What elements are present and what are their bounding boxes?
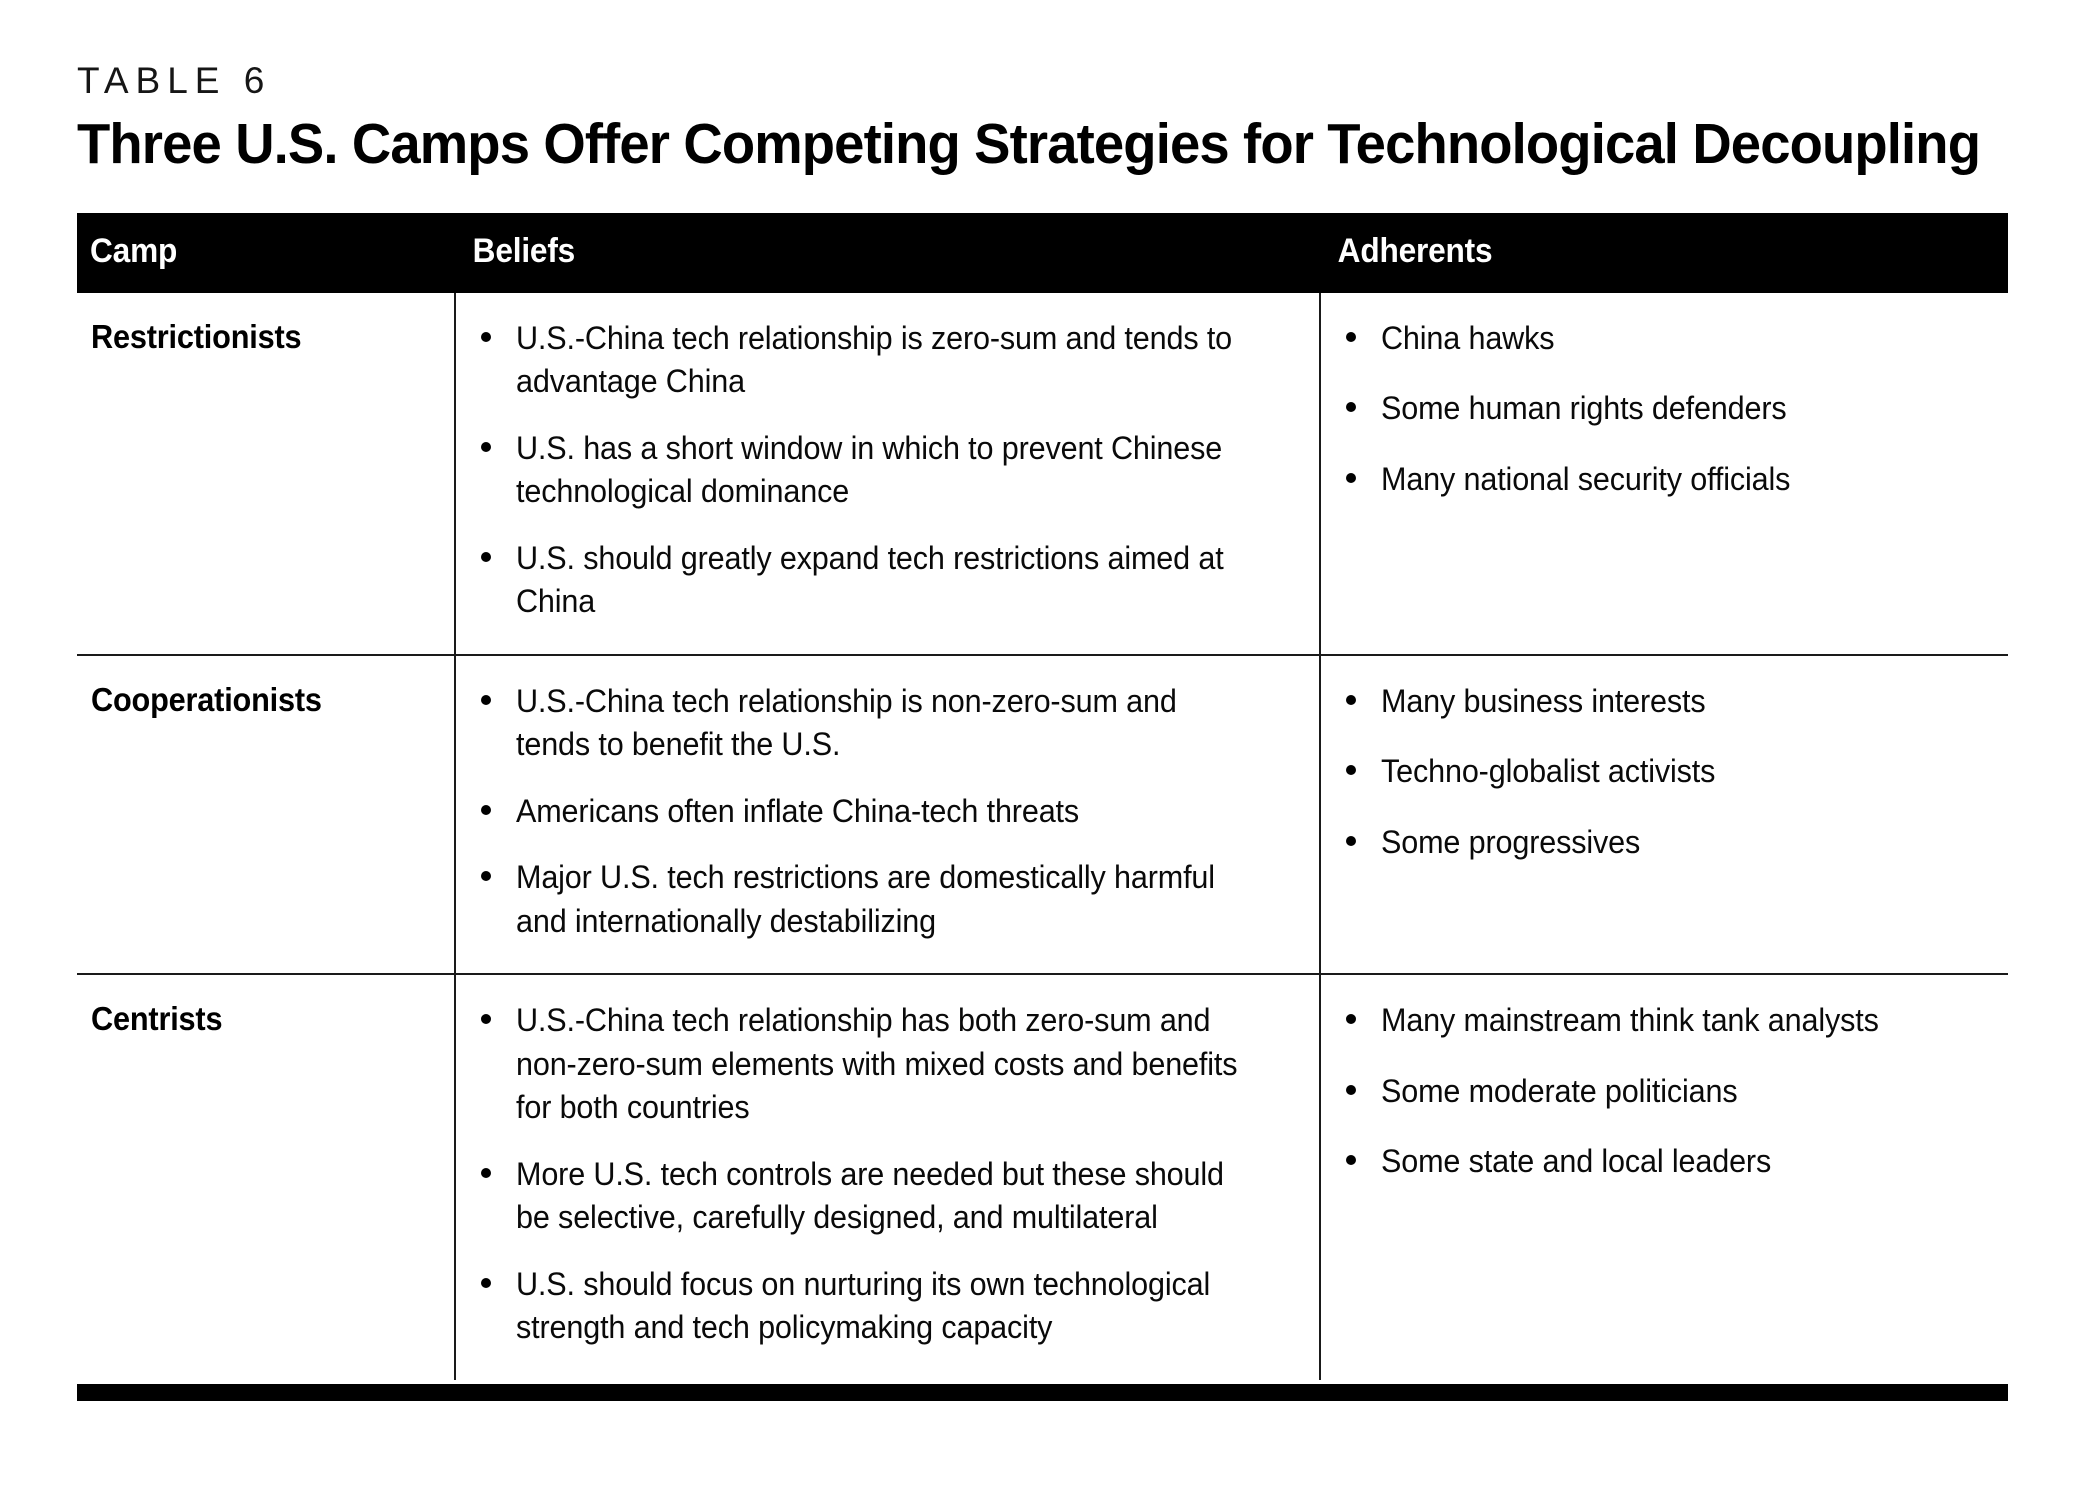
cell-camp: Cooperationists: [77, 655, 455, 975]
bullet-icon: [481, 552, 491, 562]
bullet-icon: [1346, 1085, 1356, 1095]
bullet-icon: [481, 442, 491, 452]
list-item: Some state and local leaders: [1340, 1140, 1998, 1184]
list-item-text: Some human rights defenders: [1381, 387, 1970, 431]
list-item: Many mainstream think tank analysts: [1340, 999, 1998, 1043]
table-header: Camp Beliefs Adherents: [77, 213, 2008, 293]
table-body: Restrictionists U.S.-China tech relation…: [77, 293, 2008, 1380]
table-bottom-rule: [77, 1384, 2008, 1401]
list-item: Some human rights defenders: [1340, 387, 1998, 431]
bullet-icon: [481, 1168, 491, 1178]
bullet-icon: [481, 1278, 491, 1288]
list-item-text: Some moderate politicians: [1381, 1070, 1970, 1114]
list-item: U.S.-China tech relationship is zero-sum…: [475, 317, 1291, 404]
table-row: Centrists U.S.-China tech relationship h…: [77, 974, 2008, 1380]
cell-adherents: Many business interests Techno-globalist…: [1320, 655, 2008, 975]
column-header-adherents: Adherents: [1320, 213, 1960, 293]
cell-beliefs: U.S.-China tech relationship is zero-sum…: [455, 293, 1320, 655]
list-item-text: China hawks: [1381, 317, 1970, 361]
cell-camp: Restrictionists: [77, 293, 455, 655]
column-header-beliefs: Beliefs: [455, 213, 1259, 293]
page-title: Three U.S. Camps Offer Competing Strateg…: [77, 113, 1920, 177]
bullet-icon: [1346, 1155, 1356, 1165]
table-number-label: TABLE 6: [77, 0, 2007, 101]
adherents-list: China hawks Some human rights defenders …: [1340, 317, 1998, 502]
cell-adherents: China hawks Some human rights defenders …: [1320, 293, 2008, 655]
table-header-row: Camp Beliefs Adherents: [77, 213, 2008, 293]
beliefs-list: U.S.-China tech relationship has both ze…: [475, 999, 1291, 1350]
list-item: Some moderate politicians: [1340, 1070, 1998, 1114]
bullet-icon: [1346, 1014, 1356, 1024]
list-item: U.S.-China tech relationship is non-zero…: [475, 680, 1291, 767]
adherents-list: Many mainstream think tank analysts Some…: [1340, 999, 1998, 1184]
list-item: More U.S. tech controls are needed but t…: [475, 1153, 1291, 1240]
list-item-text: Many mainstream think tank analysts: [1381, 999, 1970, 1043]
table-page: TABLE 6 Three U.S. Camps Offer Competing…: [0, 0, 2084, 1488]
cell-beliefs: U.S.-China tech relationship is non-zero…: [455, 655, 1320, 975]
list-item-text: U.S. has a short window in which to prev…: [516, 427, 1256, 514]
camp-name: Cooperationists: [91, 680, 419, 720]
list-item: Techno-globalist activists: [1340, 750, 1998, 794]
bullet-icon: [1346, 765, 1356, 775]
table-row: Restrictionists U.S.-China tech relation…: [77, 293, 2008, 655]
cell-adherents: Many mainstream think tank analysts Some…: [1320, 974, 2008, 1380]
list-item-text: U.S. should greatly expand tech restrict…: [516, 537, 1256, 624]
list-item-text: U.S. should focus on nurturing its own t…: [516, 1263, 1256, 1350]
cell-camp: Centrists: [77, 974, 455, 1380]
list-item: Major U.S. tech restrictions are domesti…: [475, 856, 1291, 943]
bullet-icon: [1346, 836, 1356, 846]
list-item-text: Some progressives: [1381, 821, 1970, 865]
table-row: Cooperationists U.S.-China tech relation…: [77, 655, 2008, 975]
list-item-text: Many national security officials: [1381, 458, 1970, 502]
list-item: Many business interests: [1340, 680, 1998, 724]
list-item: Some progressives: [1340, 821, 1998, 865]
list-item-text: More U.S. tech controls are needed but t…: [516, 1153, 1256, 1240]
bullet-icon: [1346, 402, 1356, 412]
camp-name: Centrists: [91, 999, 419, 1039]
list-item-text: U.S.-China tech relationship is non-zero…: [516, 680, 1256, 767]
list-item: U.S. should focus on nurturing its own t…: [475, 1263, 1291, 1350]
column-header-camp: Camp: [77, 213, 429, 293]
list-item: Americans often inflate China-tech threa…: [475, 790, 1291, 834]
list-item-text: Major U.S. tech restrictions are domesti…: [516, 856, 1256, 943]
list-item-text: Some state and local leaders: [1381, 1140, 1970, 1184]
bullet-icon: [1346, 332, 1356, 342]
camp-name: Restrictionists: [91, 317, 419, 357]
bullet-icon: [1346, 695, 1356, 705]
beliefs-list: U.S.-China tech relationship is non-zero…: [475, 680, 1291, 944]
table-container: Camp Beliefs Adherents Restrictionists: [77, 213, 2008, 1401]
list-item: U.S. has a short window in which to prev…: [475, 427, 1291, 514]
list-item: U.S.-China tech relationship has both ze…: [475, 999, 1291, 1130]
list-item-text: Techno-globalist activists: [1381, 750, 1970, 794]
adherents-list: Many business interests Techno-globalist…: [1340, 680, 1998, 865]
cell-beliefs: U.S.-China tech relationship has both ze…: [455, 974, 1320, 1380]
list-item: U.S. should greatly expand tech restrict…: [475, 537, 1291, 624]
list-item-text: U.S.-China tech relationship is zero-sum…: [516, 317, 1256, 404]
bullet-icon: [481, 805, 491, 815]
bullet-icon: [1346, 473, 1356, 483]
list-item-text: Americans often inflate China-tech threa…: [516, 790, 1256, 834]
beliefs-list: U.S.-China tech relationship is zero-sum…: [475, 317, 1291, 624]
bullet-icon: [481, 871, 491, 881]
bullet-icon: [481, 1014, 491, 1024]
list-item-text: U.S.-China tech relationship has both ze…: [516, 999, 1256, 1130]
bullet-icon: [481, 695, 491, 705]
list-item: China hawks: [1340, 317, 1998, 361]
bullet-icon: [481, 332, 491, 342]
list-item: Many national security officials: [1340, 458, 1998, 502]
list-item-text: Many business interests: [1381, 680, 1970, 724]
camps-strategies-table: Camp Beliefs Adherents Restrictionists: [77, 213, 2008, 1380]
